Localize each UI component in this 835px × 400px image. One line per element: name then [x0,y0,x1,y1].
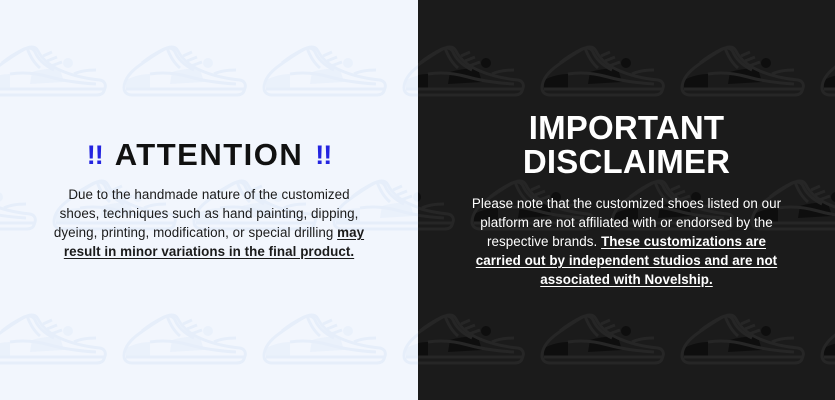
attention-content: !!ATTENTION!! Due to the handmade nature… [0,139,418,261]
sneaker-icon [678,300,806,370]
sneaker-icon [538,32,666,102]
disclaimer-content: IMPORTANT DISCLAIMER Please note that th… [418,111,835,289]
sneaker-icon [400,300,418,370]
attention-body: Due to the handmade nature of the custom… [50,185,368,261]
sneaker-icon [120,300,248,370]
sneaker-icon [0,32,108,102]
disclaimer-panel: IMPORTANT DISCLAIMER Please note that th… [418,0,835,400]
sneaker-icon [418,300,526,370]
attention-panel: !!ATTENTION!! Due to the handmade nature… [0,0,418,400]
attention-heading: !!ATTENTION!! [26,139,392,170]
double-exclamation-right-icon: !! [315,140,331,170]
double-exclamation-left-icon: !! [87,140,103,170]
sneaker-icon [678,32,806,102]
sneaker-icon [120,32,248,102]
sneaker-icon [400,32,418,102]
attention-body-normal: Due to the handmade nature of the custom… [54,187,358,240]
disclaimer-heading-line2: DISCLAIMER [444,145,809,179]
disclaimer-heading-line1: IMPORTANT [529,109,725,146]
sneaker-icon [260,300,388,370]
sneaker-icon [418,32,526,102]
customization-disclaimer-banner: !!ATTENTION!! Due to the handmade nature… [0,0,835,400]
sneaker-icon [260,32,388,102]
disclaimer-heading: IMPORTANT DISCLAIMER [444,111,809,180]
disclaimer-body: Please note that the customized shoes li… [471,194,783,289]
sneaker-icon [0,300,108,370]
attention-heading-text: ATTENTION [115,137,304,172]
sneaker-icon [818,300,835,370]
sneaker-icon [818,32,835,102]
sneaker-icon [538,300,666,370]
